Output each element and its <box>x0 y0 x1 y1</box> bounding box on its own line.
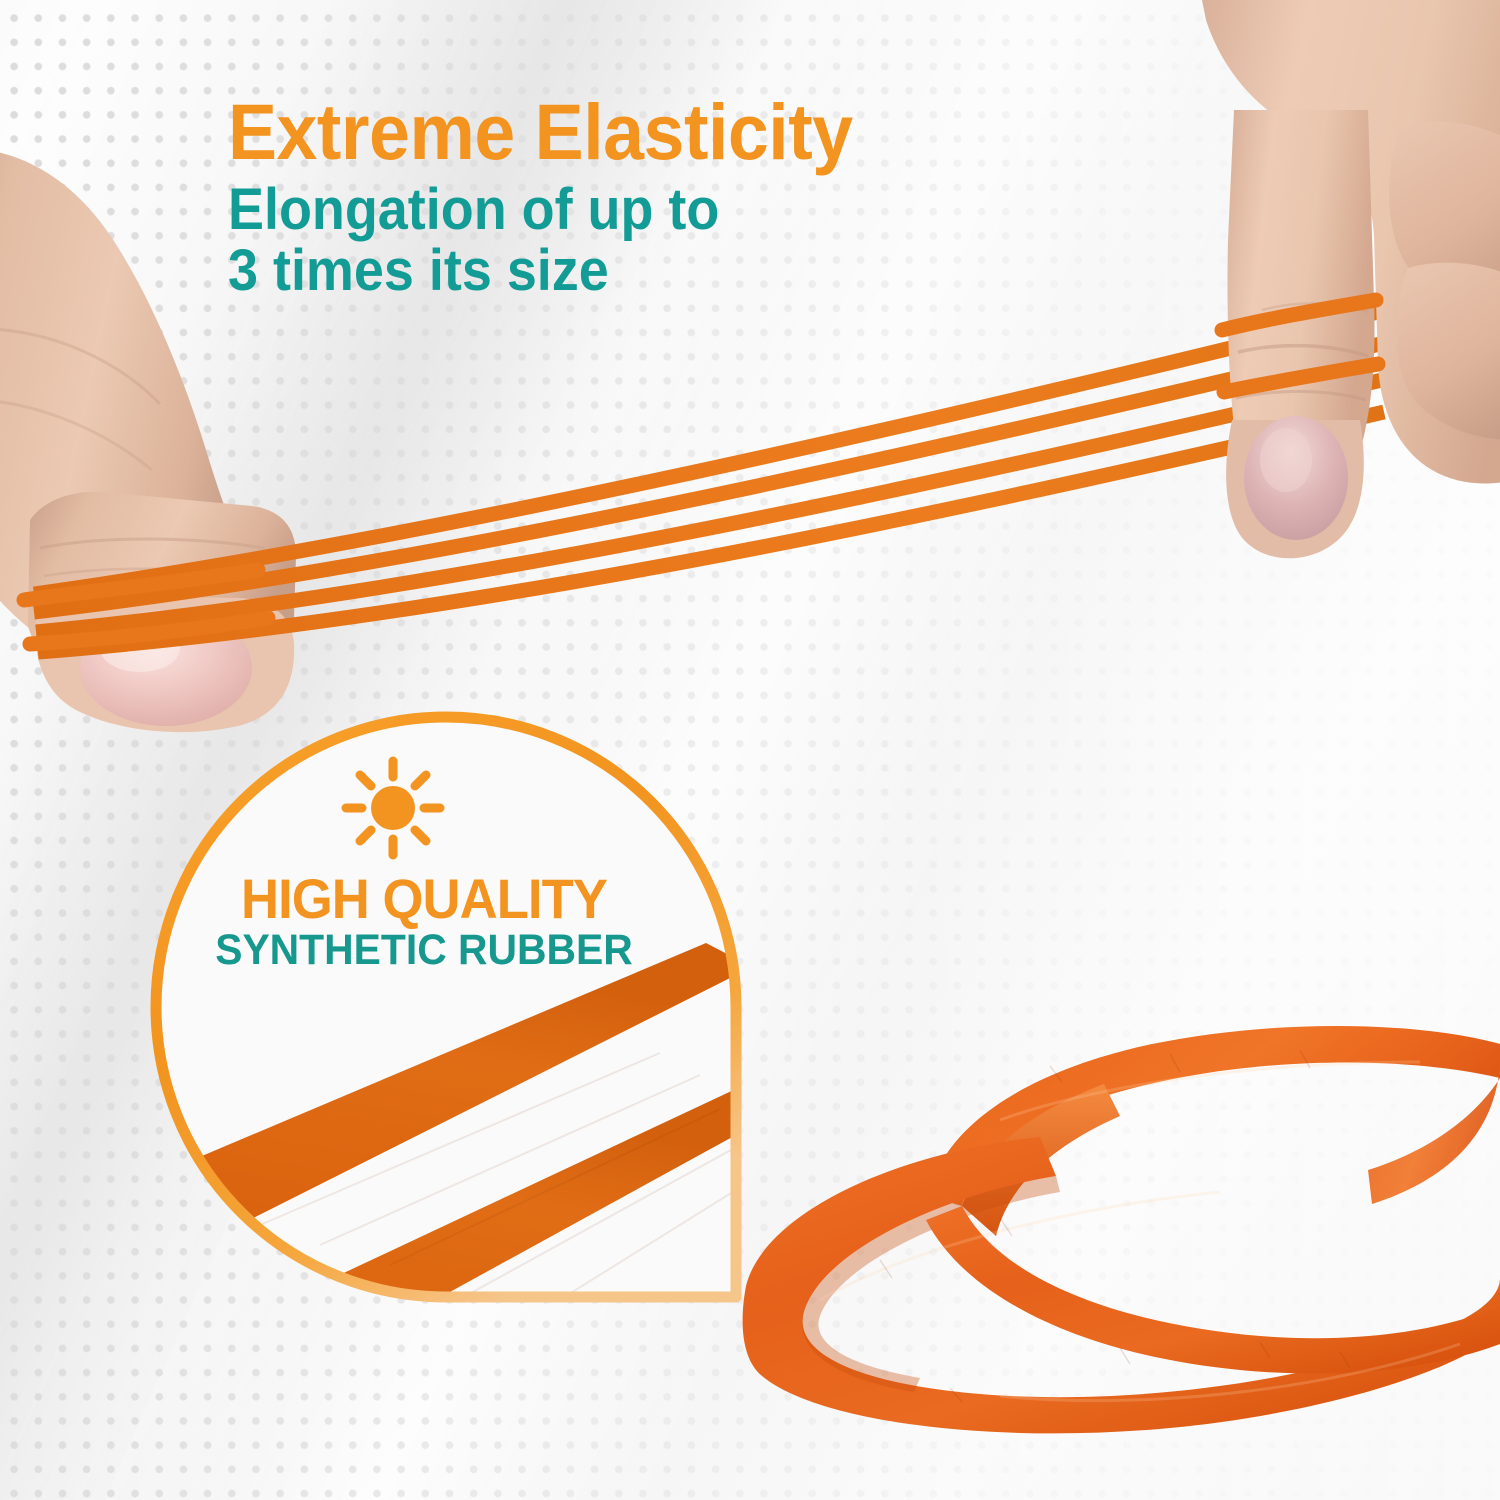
right-hand-thumb <box>1196 0 1500 558</box>
product-feature-image: Extreme Elasticity Elongation of up to 3… <box>0 0 1500 1500</box>
coil-crossing-strand <box>926 1206 1500 1374</box>
high-quality-badge: HIGH QUALITY SYNTHETIC RUBBER <box>140 705 752 1323</box>
coiled-rubber-band <box>700 1000 1500 1440</box>
badge-shape <box>140 705 752 1323</box>
